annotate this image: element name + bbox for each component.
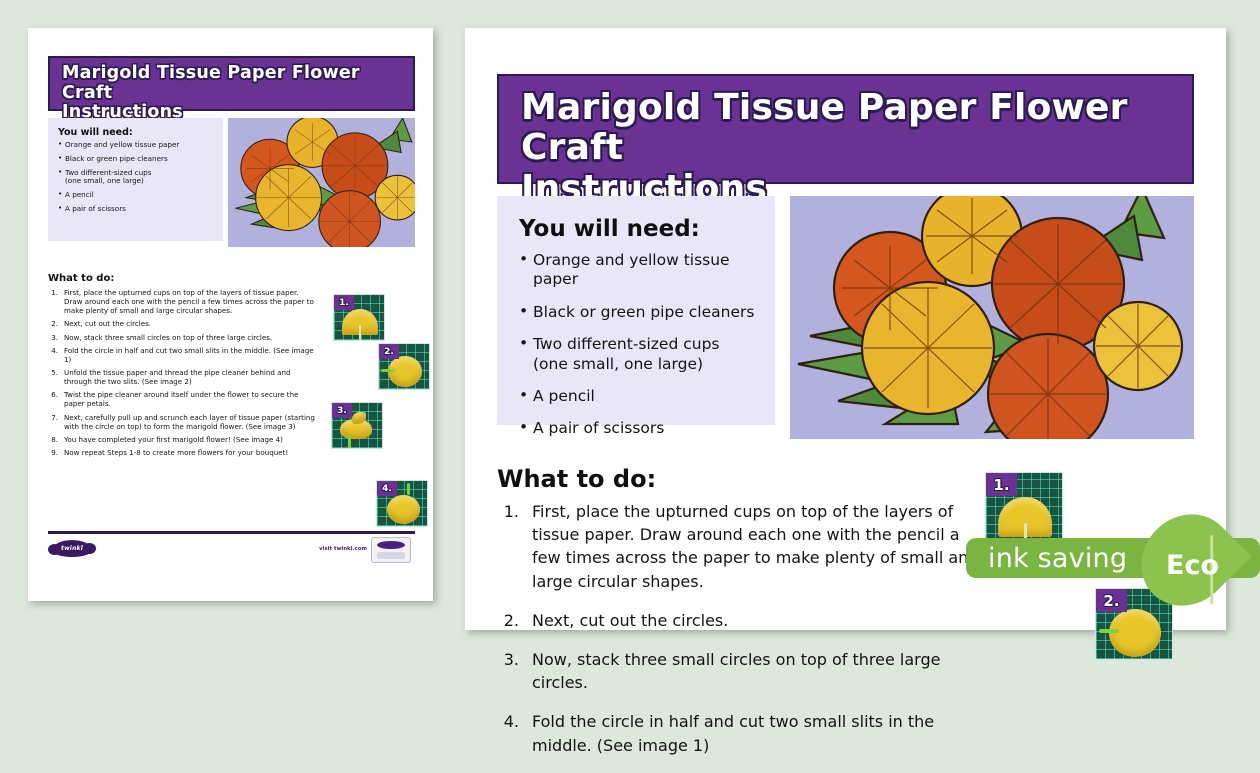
main-instructions-heading: What to do: — [497, 465, 656, 493]
ink-saving-eco-badge: ink saving Eco — [966, 530, 1260, 586]
twinkl-logo[interactable]: twinkl — [52, 540, 92, 557]
step-number-badge: 3. — [332, 403, 352, 418]
eco-badge-word: Eco — [1166, 550, 1219, 581]
footer-divider — [48, 531, 415, 534]
list-item: 6.Twist the pipe cleaner around itself u… — [48, 391, 316, 409]
main-title-line-1: Marigold Tissue Paper Flower Craft — [521, 88, 1174, 169]
step-number-badge: 1. — [986, 473, 1017, 496]
tissue-shape — [1109, 609, 1161, 657]
main-instructions-list: 1.First, place the upturned cups on top … — [497, 500, 992, 773]
list-item: 1.First, place the upturned cups on top … — [497, 500, 992, 593]
step-photo-4: 4. — [376, 480, 428, 527]
list-item: 7.Next, carefully pull up and scrunch ea… — [48, 414, 316, 432]
step-photo-1: 1. — [333, 294, 385, 341]
list-item: 4.Fold the circle in half and cut two sm… — [497, 710, 992, 756]
list-item: 9.Now repeat Steps 1-8 to create more fl… — [48, 449, 316, 458]
thumbnail-instructions-list: 1.First, place the upturned cups on top … — [48, 289, 316, 463]
step-number-badge: 1. — [334, 295, 354, 310]
list-item: Black or green pipe cleaners — [519, 303, 761, 322]
pipe-cleaner — [407, 483, 410, 495]
list-item: A pair of scissors — [58, 205, 215, 214]
step-photo-2: 2. — [378, 343, 430, 390]
list-item: 8.You have completed your first marigold… — [48, 436, 316, 445]
thumbnail-title-banner: Marigold Tissue Paper Flower Craft Instr… — [48, 56, 415, 111]
thumbnail-materials-box: You will need: Orange and yellow tissue … — [48, 118, 223, 241]
tissue-shape — [387, 495, 420, 524]
thumbnail-instructions-heading: What to do: — [48, 273, 114, 284]
thumbnail-marigold-illustration — [228, 118, 415, 247]
list-item: 2.Next, cut out the circles. — [48, 320, 316, 329]
list-item: A pencil — [58, 191, 215, 200]
marigold-bouquet-icon — [228, 118, 415, 247]
list-item: Two different-sized cups (one small, one… — [58, 169, 215, 187]
list-item: A pencil — [519, 387, 761, 406]
main-materials-heading: You will need: — [519, 216, 761, 242]
step-number-badge: 2. — [379, 344, 399, 359]
step-number-badge: 4. — [377, 481, 397, 496]
marigold-bouquet-icon — [790, 196, 1194, 439]
main-title-banner: Marigold Tissue Paper Flower Craft Instr… — [497, 74, 1194, 184]
step-number-badge: 2. — [1096, 589, 1127, 612]
twinkl-logo-text: twinkl — [61, 545, 83, 552]
main-materials-box: You will need: Orange and yellow tissue … — [497, 196, 775, 425]
thumbnail-title-line-1: Marigold Tissue Paper Flower Craft — [62, 64, 403, 103]
list-item: 1.First, place the upturned cups on top … — [48, 289, 316, 316]
step-photo-3: 3. — [331, 402, 383, 449]
eco-badge-label: ink saving — [988, 543, 1127, 574]
list-item: A pair of scissors — [519, 419, 761, 438]
twinkl-badge-icon — [371, 537, 411, 563]
pipe-cleaner — [381, 369, 395, 372]
list-item: Orange and yellow tissue paper — [58, 141, 215, 150]
list-item: 5.Unfold the tissue paper and thread the… — [48, 369, 316, 387]
thumbnail-materials-list: Orange and yellow tissue paper Black or … — [58, 141, 215, 214]
list-item: 4.Fold the circle in half and cut two sm… — [48, 347, 316, 365]
list-item: Black or green pipe cleaners — [58, 155, 215, 164]
main-materials-list: Orange and yellow tissue paper Black or … — [519, 251, 761, 439]
list-item: Orange and yellow tissue paper — [519, 251, 761, 290]
main-marigold-illustration — [790, 196, 1194, 439]
screenshot-stage: Marigold Tissue Paper Flower Craft Instr… — [0, 0, 1260, 630]
thumbnail-page[interactable]: Marigold Tissue Paper Flower Craft Instr… — [28, 28, 433, 601]
thumbnail-materials-heading: You will need: — [58, 127, 215, 138]
list-item: 3.Now, stack three small circles on top … — [497, 648, 992, 694]
list-item: Two different-sized cups (one small, one… — [519, 335, 761, 374]
list-item: 2.Next, cut out the circles. — [497, 609, 992, 632]
visit-link[interactable]: visit twinkl.com — [319, 546, 367, 552]
list-item: 3.Now, stack three small circles on top … — [48, 334, 316, 343]
pipe-cleaner — [348, 436, 351, 449]
slit-mark — [359, 325, 361, 340]
